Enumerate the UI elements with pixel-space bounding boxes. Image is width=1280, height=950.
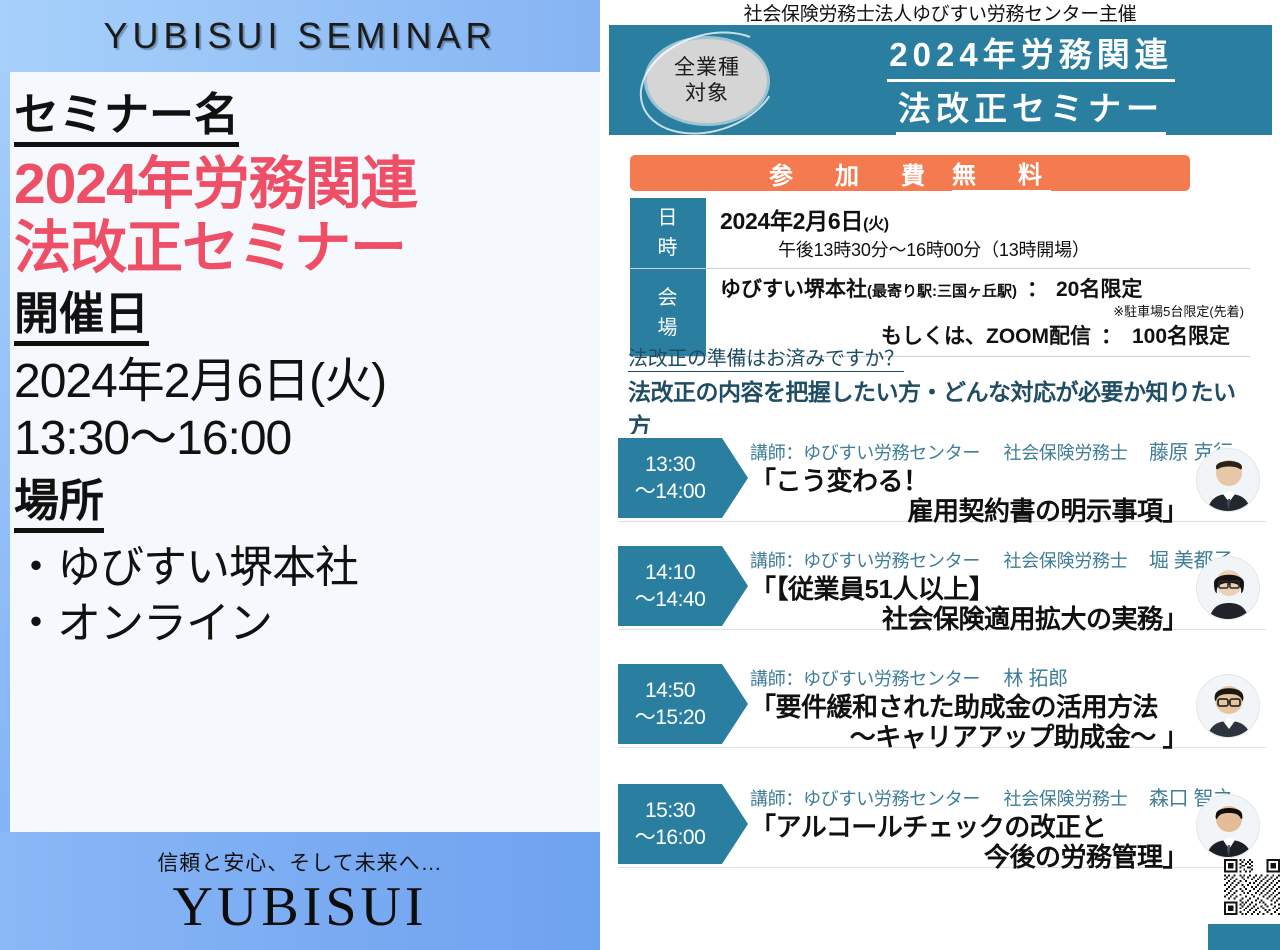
- session-time-start: 14:50: [645, 677, 695, 704]
- venue-key-char-1: 会: [658, 283, 679, 313]
- session-row[interactable]: 14:10 〜14:40 講師：ゆびすい労務センター 社会保険労務士 堀 美都子…: [618, 542, 1266, 630]
- venue-capacity: 20名限定: [1056, 273, 1142, 303]
- session-lecturer-line: 講師：ゆびすい労務センター 社会保険労務士 藤原 克行: [750, 436, 1188, 465]
- left-content: セミナー名 2024年労務関連 法改正セミナー 開催日 2024年2月6日(火)…: [0, 72, 600, 832]
- place-label: 場所: [14, 474, 104, 533]
- session-lecturer-role: 社会保険労務士: [1004, 789, 1128, 809]
- session-time-start: 15:30: [645, 797, 695, 824]
- registration-area[interactable]: 参加をご希望の方は下記URL又はQRコードよりお申込みください。 https:/…: [1224, 858, 1280, 916]
- session-time-end: 〜14:00: [635, 478, 706, 505]
- footer-brand-name: YUBISUI: [172, 879, 427, 935]
- pitch-line-1: 法改正の準備はお済みですか？: [628, 342, 904, 372]
- session-lecturer-prefix: 講師：ゆびすい労務センター: [750, 669, 980, 689]
- datetime-main: 2024年2月6日: [720, 208, 863, 234]
- datetime-weekday: (火): [863, 216, 889, 233]
- session-time-start: 14:10: [645, 559, 695, 586]
- session-title-line-1: 「こう変わる！: [750, 466, 929, 496]
- session-title: 「要件緩和された助成金の活用方法 〜キャリアアップ助成金〜 」: [750, 692, 1188, 753]
- session-title-line-2: 社会保険適用拡大の実務」: [750, 604, 1188, 634]
- avatar-icon: [1197, 795, 1260, 858]
- session-lecturer-prefix: 講師：ゆびすい労務センター: [750, 551, 980, 571]
- avatar: [1196, 448, 1260, 512]
- qr-code-icon[interactable]: [1224, 859, 1280, 915]
- right-flyer-panel: 社会保険労務士法人ゆびすい労務センター主催 全業種 対象 2024年労務関連 法…: [600, 0, 1280, 950]
- details-table: 日 時 2024年2月6日(火) 午後13時30分〜16時00分（13時開場） …: [630, 198, 1250, 357]
- session-title-line-1: 「【従業員51人以上】: [750, 574, 994, 604]
- left-summary-panel: YUBISUI SEMINAR セミナー名 2024年労務関連 法改正セミナー …: [0, 0, 600, 950]
- place-item-onsite: ・ゆびすい堺本社: [14, 540, 586, 596]
- detail-value-datetime: 2024年2月6日(火) 午後13時30分〜16時00分（13時開場）: [720, 198, 1250, 268]
- session-body: 講師：ゆびすい労務センター 社会保険労務士 森口 智之 「アルコールチェックの改…: [750, 782, 1188, 873]
- footer-tagline: 信頼と安心、そして未来へ…: [157, 847, 442, 877]
- session-title-line-2: 今後の労務管理」: [750, 842, 1188, 872]
- session-lecturer-line: 講師：ゆびすい労務センター 社会保険労務士 堀 美都子: [750, 544, 1188, 573]
- venue-key-char-2: 場: [658, 313, 679, 343]
- fee-label: 参 加 費: [769, 156, 934, 191]
- bottom-accent-bar: [1208, 924, 1280, 950]
- hero-title-block: 2024年労務関連 法改正セミナー: [797, 32, 1265, 135]
- session-time-end: 〜14:40: [635, 586, 706, 613]
- session-lecturer-role: 社会保険労務士: [1004, 443, 1128, 463]
- session-title-line-1: 「アルコールチェックの改正と: [750, 812, 1106, 842]
- badge-line-2: 対象: [685, 81, 729, 107]
- session-lecturer-prefix: 講師：ゆびすい労務センター: [750, 443, 980, 463]
- target-audience-badge: 全業種 対象: [647, 39, 767, 123]
- session-time-tag: 14:10 〜14:40: [618, 546, 722, 626]
- session-title: 「こう変わる！ 雇用契約書の明示事項」: [750, 466, 1188, 527]
- pitch-line-2: 法改正の内容を把握したい方・どんな対応が必要か知りたい方: [628, 373, 1248, 443]
- session-body: 講師：ゆびすい労務センター 林 拓郎 「要件緩和された助成金の活用方法 〜キャリ…: [750, 662, 1188, 753]
- avatar-icon: [1197, 675, 1260, 738]
- session-title: 「アルコールチェックの改正と 今後の労務管理」: [750, 812, 1188, 873]
- avatar: [1196, 794, 1260, 858]
- hero-title-line-1: 2024年労務関連: [887, 32, 1174, 82]
- detail-row-datetime: 日 時 2024年2月6日(火) 午後13時30分〜16時00分（13時開場）: [630, 198, 1250, 269]
- host-organization: 社会保険労務士法人ゆびすい労務センター主催: [600, 0, 1280, 24]
- session-body: 講師：ゆびすい労務センター 社会保険労務士 堀 美都子 「【従業員51人以上】 …: [750, 544, 1188, 635]
- session-title-line-2: 〜キャリアアップ助成金〜 」: [750, 722, 1188, 752]
- session-row[interactable]: 15:30 〜16:00 講師：ゆびすい労務センター 社会保険労務士 森口 智之…: [618, 780, 1266, 868]
- seminar-title-line-2: 法改正セミナー: [14, 217, 586, 281]
- venue-colon: ：: [1027, 273, 1048, 303]
- session-row[interactable]: 13:30 〜14:00 講師：ゆびすい労務センター 社会保険労務士 藤原 克行…: [618, 434, 1266, 522]
- session-title-line-2: 雇用契約書の明示事項」: [750, 496, 1188, 526]
- session-lecturer-prefix: 講師：ゆびすい労務センター: [750, 789, 980, 809]
- avatar: [1196, 556, 1260, 620]
- hero-title-line-2: 法改正セミナー: [896, 86, 1166, 136]
- session-time-start: 13:30: [645, 451, 695, 478]
- datetime-key-char-1: 日: [658, 203, 679, 233]
- hero-header: 全業種 対象 2024年労務関連 法改正セミナー: [608, 24, 1273, 136]
- date-label: 開催日: [14, 287, 149, 346]
- datetime-sub: 午後13時30分〜16時00分（13時開場）: [720, 236, 1250, 262]
- seminar-poster: YUBISUI SEMINAR セミナー名 2024年労務関連 法改正セミナー …: [0, 0, 1280, 950]
- detail-key-datetime: 日 時: [630, 198, 706, 268]
- session-title: 「【従業員51人以上】 社会保険適用拡大の実務」: [750, 574, 1188, 635]
- time-value: 13:30〜16:00: [14, 410, 586, 468]
- venue-station: (最寄り駅:三国ヶ丘駅): [867, 280, 1017, 301]
- left-banner-text: YUBISUI SEMINAR: [103, 15, 496, 57]
- fee-value: 無 料: [952, 155, 1051, 192]
- avatar: [1196, 674, 1260, 738]
- venue-name: ゆびすい堺本社: [720, 273, 867, 303]
- session-time-end: 〜15:20: [635, 704, 706, 731]
- session-lecturer-line: 講師：ゆびすい労務センター 社会保険労務士 森口 智之: [750, 782, 1188, 811]
- seminar-name-label: セミナー名: [14, 88, 239, 147]
- datetime-key-char-2: 時: [658, 233, 679, 263]
- session-lecturer-line: 講師：ゆびすい労務センター 林 拓郎: [750, 662, 1188, 691]
- session-body: 講師：ゆびすい労務センター 社会保険労務士 藤原 克行 「こう変わる！ 雇用契約…: [750, 436, 1188, 527]
- left-top-banner: YUBISUI SEMINAR: [0, 0, 600, 72]
- session-time-tag: 14:50 〜15:20: [618, 664, 722, 744]
- venue-parking-note: ※駐車場5台限定(先着): [720, 301, 1250, 320]
- left-footer-logo-area: 信頼と安心、そして未来へ… YUBISUI: [0, 832, 600, 950]
- avatar-icon: [1197, 557, 1260, 620]
- session-time-tag: 15:30 〜16:00: [618, 784, 722, 864]
- session-time-tag: 13:30 〜14:00: [618, 438, 722, 518]
- fee-banner: 参 加 費 無 料: [630, 155, 1190, 191]
- session-row[interactable]: 14:50 〜15:20 講師：ゆびすい労務センター 林 拓郎 「要件緩和された…: [618, 660, 1266, 748]
- session-lecturer-role: 社会保険労務士: [1004, 551, 1128, 571]
- seminar-title-line-1: 2024年労務関連: [14, 153, 586, 217]
- date-value: 2024年2月6日(火): [14, 353, 586, 411]
- session-time-end: 〜16:00: [635, 824, 706, 851]
- session-lecturer-name: 林 拓郎: [1004, 668, 1068, 690]
- session-title-line-1: 「要件緩和された助成金の活用方法: [750, 692, 1158, 722]
- place-item-online: ・オンライン: [14, 596, 586, 652]
- badge-line-1: 全業種: [674, 55, 740, 81]
- avatar-icon: [1197, 449, 1260, 512]
